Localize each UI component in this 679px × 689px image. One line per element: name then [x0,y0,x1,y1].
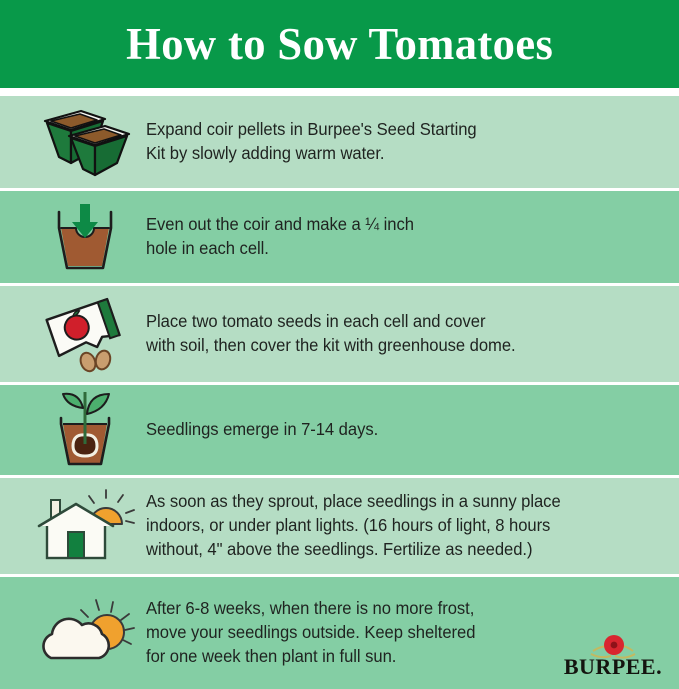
infographic-root: How to Sow Tomatoes [0,0,679,679]
step-text-line: Seedlings emerge in 7-14 days. [146,418,642,442]
house-with-sun-icon [24,486,146,566]
seedling-in-pot-icon [24,388,146,472]
step-text-line: hole in each cell. [146,237,642,261]
seed-starting-cells-icon [24,105,146,179]
cloud-with-sun-icon [24,594,146,672]
step-text-line: After 6-8 weeks, when there is no more f… [146,597,642,621]
burpee-wordmark: BURPEE. [564,654,662,679]
step-text-line: Even out the coir and make a ¼ inch [146,213,642,237]
cell-with-down-arrow-icon [24,198,146,276]
step-row-2: Even out the coir and make a ¼ inch hole… [0,191,679,283]
step-row-6: After 6-8 weeks, when there is no more f… [0,577,679,689]
step-text-line: As soon as they sprout, place seedlings … [146,490,642,514]
step-text-3: Place two tomato seeds in each cell and … [146,310,642,357]
step-row-3: Place two tomato seeds in each cell and … [0,286,679,382]
burpee-logo: BURPEE. [557,625,669,681]
header-banner: How to Sow Tomatoes [0,0,679,88]
step-row-4: Seedlings emerge in 7-14 days. [0,385,679,475]
step-text-line: Place two tomato seeds in each cell and … [146,310,642,334]
step-text-5: As soon as they sprout, place seedlings … [146,490,642,561]
step-row-1: Expand coir pellets in Burpee's Seed Sta… [0,96,679,188]
step-text-line: indoors, or under plant lights. (16 hour… [146,514,642,538]
page-title: How to Sow Tomatoes [126,22,553,67]
seed-packet-icon [24,292,146,376]
step-text-4: Seedlings emerge in 7-14 days. [146,418,642,442]
header-divider [0,88,679,96]
steps-list: Expand coir pellets in Burpee's Seed Sta… [0,96,679,689]
step-text-2: Even out the coir and make a ¼ inch hole… [146,213,642,260]
step-text-line: Expand coir pellets in Burpee's Seed Sta… [146,118,642,142]
step-text-line: without, 4" above the seedlings. Fertili… [146,538,642,562]
step-text-1: Expand coir pellets in Burpee's Seed Sta… [146,118,642,165]
step-row-5: As soon as they sprout, place seedlings … [0,478,679,574]
step-text-line: with soil, then cover the kit with green… [146,334,642,358]
step-text-line: Kit by slowly adding warm water. [146,142,642,166]
